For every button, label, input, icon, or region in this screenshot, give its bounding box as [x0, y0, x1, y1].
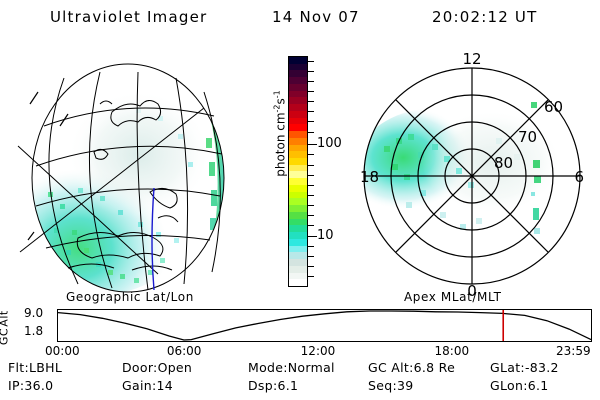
- status-field-key: Flt:: [8, 360, 29, 375]
- status-field: GC Alt: 6.8 Re: [368, 360, 455, 375]
- colorbar-major-tick: [308, 144, 317, 145]
- colorbar-minor-tick: [308, 154, 314, 155]
- instrument-title: Ultraviolet Imager: [50, 8, 207, 26]
- status-field: Door: Open: [122, 360, 192, 375]
- colorbar-unit-main: photon cm: [274, 112, 288, 176]
- colorbar-band: [289, 97, 307, 104]
- globe-plot-caption: Geographic Lat/Lon: [66, 290, 194, 304]
- colorbar-minor-tick: [308, 205, 314, 206]
- status-field-key: IP:: [8, 378, 24, 393]
- status-field: Mode: Normal: [248, 360, 335, 375]
- colorbar-minor-tick: [308, 61, 314, 62]
- colorbar-unit-exp2: -1: [273, 90, 282, 98]
- colorbar-gradient: [289, 57, 307, 286]
- status-field: IP: 36.0: [8, 378, 53, 393]
- colorbar-band: [289, 165, 307, 172]
- status-field-value: Normal: [288, 360, 335, 375]
- colorbar-band: [289, 77, 307, 84]
- colorbar-band: [289, 225, 307, 232]
- colorbar-panel: photon cm-2s-1 10010: [256, 42, 348, 298]
- colorbar-band: [289, 185, 307, 192]
- colorbar-minor-tick: [308, 215, 314, 216]
- status-field-key: GLat:: [490, 360, 525, 375]
- colorbar-band: [289, 266, 307, 273]
- colorbar-major-tick: [308, 236, 317, 237]
- colorbar-band: [289, 138, 307, 145]
- colorbar-band: [289, 104, 307, 111]
- colorbar-band: [289, 232, 307, 239]
- colorbar-minor-tick: [308, 185, 314, 186]
- colorbar-minor-tick: [308, 175, 314, 176]
- mlt-label-12: 12: [462, 50, 481, 68]
- orbit-xtick-label: 23:59: [556, 344, 591, 358]
- observation-time: 20:02:12 UT: [432, 8, 537, 26]
- colorbar-minor-tick: [308, 121, 314, 122]
- colorbar-minor-tick: [308, 246, 314, 247]
- status-field-value: Open: [158, 360, 193, 375]
- colorbar-band: [289, 57, 307, 64]
- colorbar-band: [289, 239, 307, 246]
- status-field: Flt: LBHL: [8, 360, 62, 375]
- status-field-value: LBHL: [29, 360, 62, 375]
- orbit-altitude-trace: [58, 311, 591, 340]
- colorbar-band: [289, 219, 307, 226]
- status-field-value: 39: [397, 378, 414, 393]
- colorbar-band: [289, 145, 307, 152]
- orbit-xtick-label: 12:00: [301, 344, 336, 358]
- colorbar-band: [289, 259, 307, 266]
- colorbar-tick-label: 10: [317, 229, 334, 242]
- colorbar-minor-tick: [308, 101, 314, 102]
- status-field: GLon: 6.1: [490, 378, 549, 393]
- colorbar-scale[interactable]: [288, 56, 308, 287]
- colorbar-band: [289, 279, 307, 286]
- colorbar-band: [289, 246, 307, 253]
- status-row-1: Flt: LBHLDoor: OpenMode: NormalGC Alt: 6…: [0, 360, 600, 378]
- status-field-value: 14: [156, 378, 173, 393]
- colorbar-minor-tick: [308, 276, 314, 277]
- colorbar-band: [289, 124, 307, 131]
- colorbar-minor-tick: [308, 71, 314, 72]
- status-field: Dsp: 6.1: [248, 378, 298, 393]
- geographic-globe-plot[interactable]: [8, 42, 256, 298]
- mlat-ring-label-70: 70: [518, 128, 537, 146]
- orbit-ytick-low: 1.8: [24, 324, 43, 338]
- status-field-key: GC Alt:: [368, 360, 414, 375]
- orbit-xtick-label: 18:00: [435, 344, 470, 358]
- orbit-track-canvas: [58, 310, 591, 341]
- colorbar-band: [289, 70, 307, 77]
- status-field-value: 36.0: [24, 378, 53, 393]
- colorbar-tick-label: 100: [317, 137, 342, 150]
- colorbar-band: [289, 131, 307, 138]
- orbit-ylabel-gc: GC: [0, 322, 11, 352]
- colorbar-band: [289, 212, 307, 219]
- status-field: Gain: 14: [122, 378, 173, 393]
- orbit-ytick-high: 9.0: [24, 306, 43, 320]
- status-panel: Flt: LBHLDoor: OpenMode: NormalGC Alt: 6…: [0, 360, 600, 400]
- status-field-value: 6.1: [528, 378, 549, 393]
- colorbar-band: [289, 171, 307, 178]
- colorbar-band: [289, 91, 307, 98]
- observation-date: 14 Nov 07: [272, 8, 360, 26]
- globe-canvas: [8, 42, 256, 298]
- colorbar-band: [289, 178, 307, 185]
- status-field-value: 6.8 Re: [414, 360, 455, 375]
- status-row-2: IP: 36.0Gain: 14Dsp: 6.1Seq: 39GLon: 6.1: [0, 378, 600, 396]
- colorbar-minor-tick: [308, 256, 314, 257]
- colorbar-band: [289, 151, 307, 158]
- aurora-emission-layer: [8, 42, 256, 298]
- colorbar-minor-tick: [308, 81, 314, 82]
- status-field-key: Mode:: [248, 360, 288, 375]
- apex-polar-plot[interactable]: 12 18 6 0 60 70 80: [348, 42, 596, 298]
- colorbar-band: [289, 84, 307, 91]
- colorbar-band: [289, 118, 307, 125]
- colorbar-minor-tick: [308, 266, 314, 267]
- colorbar-unit-exp1: -2: [273, 104, 282, 112]
- colorbar-minor-tick: [308, 165, 314, 166]
- colorbar-band: [289, 198, 307, 205]
- colorbar-minor-tick: [308, 132, 314, 133]
- status-field: GLat: -83.2: [490, 360, 559, 375]
- orbit-plot-frame: [57, 309, 592, 342]
- status-field-key: Seq:: [368, 378, 397, 393]
- status-field-value: 6.1: [277, 378, 298, 393]
- colorbar-band: [289, 158, 307, 165]
- colorbar-band: [289, 273, 307, 280]
- colorbar-band: [289, 252, 307, 259]
- header-bar: Ultraviolet Imager 14 Nov 07 20:02:12 UT: [0, 6, 600, 32]
- status-field-key: Door:: [122, 360, 158, 375]
- colorbar-minor-tick: [308, 111, 314, 112]
- mlat-ring-label-60: 60: [544, 98, 563, 116]
- colorbar-band: [289, 64, 307, 71]
- status-field-value: -83.2: [525, 360, 559, 375]
- colorbar-minor-tick: [308, 225, 314, 226]
- mlat-ring-label-80: 80: [494, 154, 513, 172]
- colorbar-minor-tick: [308, 91, 314, 92]
- status-field-key: Gain:: [122, 378, 156, 393]
- colorbar-minor-tick: [308, 195, 314, 196]
- colorbar-axis-label: photon cm-2s-1: [273, 74, 288, 194]
- orbit-xtick-label: 00:00: [45, 344, 80, 358]
- polar-plot-caption: Apex MLat/MLT: [404, 290, 502, 304]
- status-field-key: GLon:: [490, 378, 528, 393]
- colorbar-band: [289, 111, 307, 118]
- colorbar-band: [289, 205, 307, 212]
- colorbar-unit-mid: s: [274, 98, 288, 104]
- polar-canvas: 12 18 6 0 60 70 80: [348, 42, 596, 298]
- status-field: Seq: 39: [368, 378, 414, 393]
- colorbar-band: [289, 192, 307, 199]
- orbit-xtick-label: 06:00: [167, 344, 202, 358]
- orbit-altitude-plot[interactable]: Alt GC 9.0 1.8 00:0006:0012:0018:0023:59: [0, 304, 600, 354]
- mlt-label-6: 6: [574, 168, 584, 186]
- status-field-key: Dsp:: [248, 378, 277, 393]
- mlt-label-18: 18: [360, 168, 379, 186]
